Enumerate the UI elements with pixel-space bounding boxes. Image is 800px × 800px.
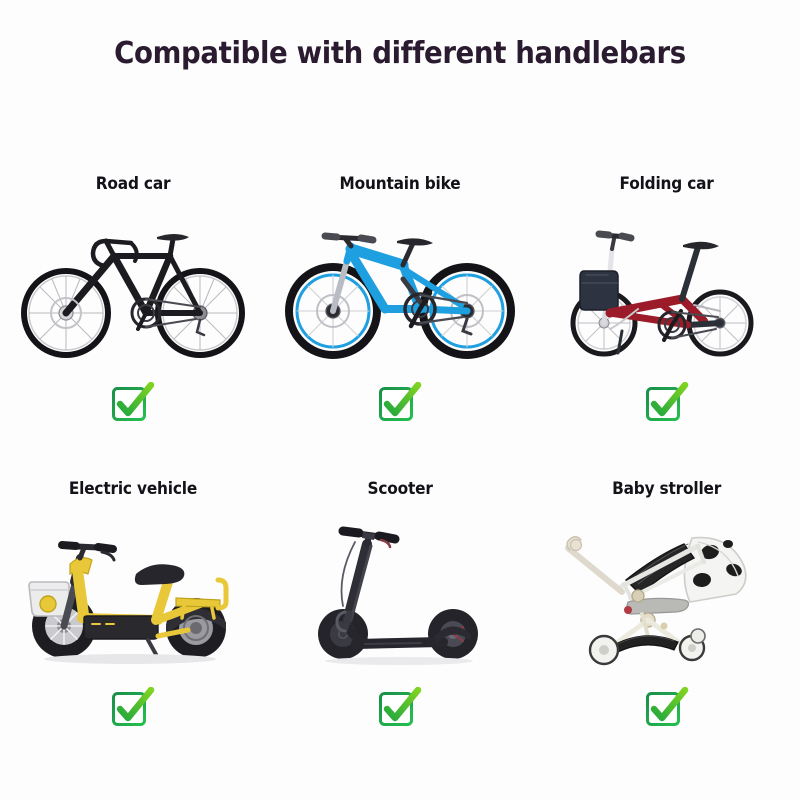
check-icon-folding-car (644, 382, 690, 428)
grid-cell-mountain-bike: Mountain bike (267, 168, 534, 473)
grid-cell-baby-stroller: Baby stroller (533, 473, 800, 778)
illustration-baby-stroller (547, 513, 787, 673)
cell-label-electric-vehicle: Electric vehicle (69, 479, 197, 499)
check-icon-road-car (110, 382, 156, 428)
illustration-electric-moped (13, 513, 253, 673)
grid-cell-road-car: Road car (0, 168, 267, 473)
compatibility-grid: Road car (0, 168, 800, 778)
page-title: Compatible with different handlebars (32, 36, 768, 71)
grid-cell-folding-car: Folding car (533, 168, 800, 473)
check-icon-scooter (377, 687, 423, 733)
illustration-mountain-bike (280, 208, 520, 368)
cell-label-folding-car: Folding car (620, 174, 714, 194)
check-icon-mountain-bike (377, 382, 423, 428)
check-icon-baby-stroller (644, 687, 690, 733)
illustration-road-bike (13, 208, 253, 368)
infographic-page: Compatible with different handlebars Roa… (0, 0, 800, 800)
grid-cell-scooter: Scooter (267, 473, 534, 778)
cell-label-scooter: Scooter (367, 479, 432, 499)
check-icon-electric-vehicle (110, 687, 156, 733)
cell-label-baby-stroller: Baby stroller (612, 479, 721, 499)
cell-label-mountain-bike: Mountain bike (340, 174, 461, 194)
cell-label-road-car: Road car (96, 174, 171, 194)
illustration-kick-scooter (280, 513, 520, 673)
illustration-folding-bike (547, 208, 787, 368)
grid-cell-electric-vehicle: Electric vehicle (0, 473, 267, 778)
